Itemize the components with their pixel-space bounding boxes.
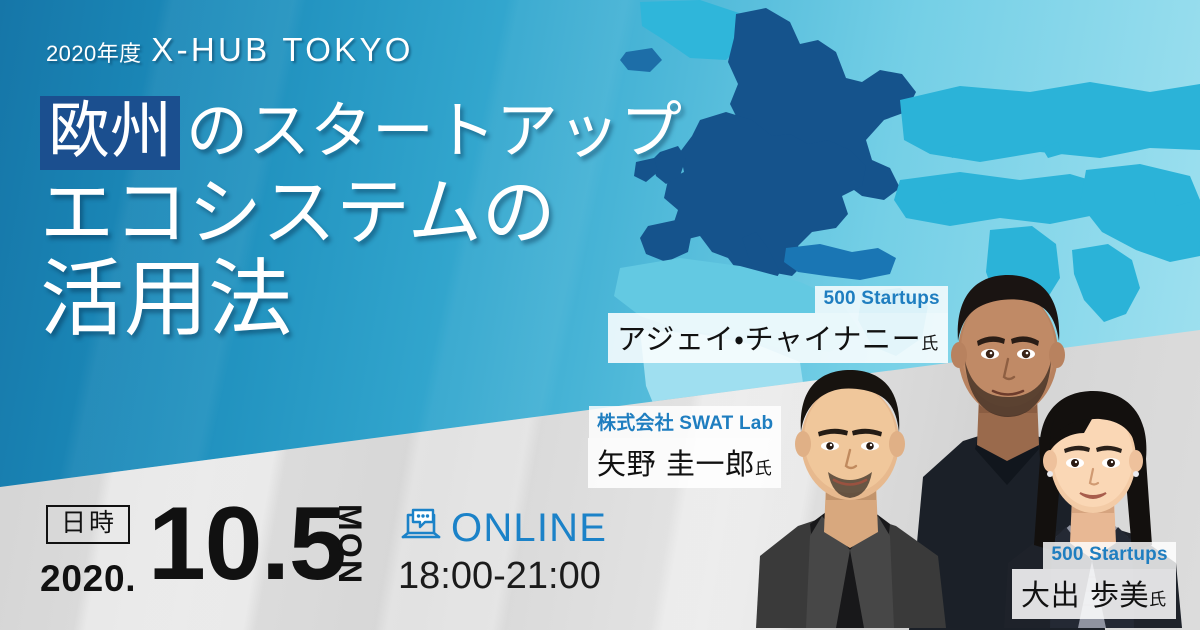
name-plate-ajay: 500 Startups アジェイ・チャイナニー氏 <box>608 286 948 363</box>
page-title: 欧州 のスタートアップ エコシステムの 活用法 <box>40 96 682 343</box>
title-highlight-europe: 欧州 <box>40 96 180 170</box>
format-label: ONLINE <box>451 508 607 548</box>
event-kicker: 2020年度 X-HUB TOKYO <box>46 31 414 69</box>
schedule-time: 18:00-21:00 <box>398 557 601 595</box>
title-line-2: エコシステムの <box>40 176 682 251</box>
title-line-1-rest: のスタートアップ <box>186 99 682 162</box>
name-plate-oide-name: 大出 歩美氏 <box>1012 569 1176 619</box>
name-plate-ajay-name: アジェイ・チャイナニー氏 <box>608 313 948 363</box>
title-line-1: 欧州 のスタートアップ <box>40 96 682 170</box>
event-banner: 2020年度 X-HUB TOKYO 欧州 のスタートアップ エコシステムの 活… <box>0 0 1200 630</box>
schedule-weekday-text: MON <box>331 504 368 585</box>
name-plate-yano: 株式会社 SWAT Lab 矢野 圭一郎氏 <box>588 406 781 488</box>
schedule-date: 10.5 <box>148 492 345 596</box>
laptop-chat-icon <box>400 506 442 549</box>
name-plate-yano-name: 矢野 圭一郎氏 <box>588 438 781 488</box>
name-plate-oide: 500 Startups 大出 歩美氏 <box>1012 542 1176 619</box>
schedule-weekday: MON <box>330 500 374 604</box>
name-plate-oide-org: 500 Startups <box>1043 542 1175 569</box>
title-line-3: 活用法 <box>40 257 682 343</box>
schedule-year: 2020. <box>40 558 136 600</box>
format-row: ONLINE <box>400 506 607 549</box>
name-plate-ajay-org: 500 Startups <box>815 286 947 313</box>
name-plate-yano-org: 株式会社 SWAT Lab <box>589 406 781 438</box>
schedule-label: 日時 <box>46 505 130 544</box>
speaker-photo-yano <box>750 360 990 630</box>
kicker-year: 2020年度 <box>46 41 142 66</box>
kicker-program: X-HUB TOKYO <box>151 31 413 68</box>
